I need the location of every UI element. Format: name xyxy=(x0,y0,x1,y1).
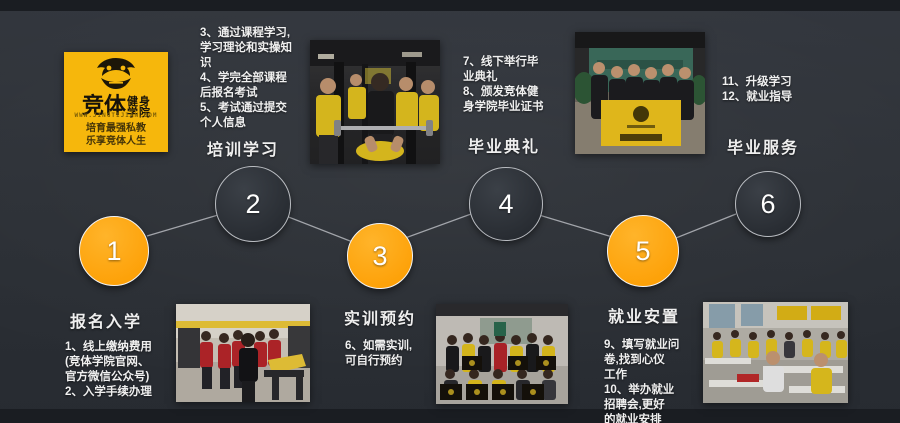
stage-title-practical-booking: 实训预约 xyxy=(344,305,416,329)
step-node-2-number: 2 xyxy=(245,191,260,218)
step-node-1-number: 1 xyxy=(106,238,121,265)
step-node-3[interactable]: 3 xyxy=(347,223,413,289)
stage-bullets-training-study: 3、通过课程学习, 学习理论和实操知 识 4、学完全部课程 后报名考试 5、考试… xyxy=(200,26,312,131)
step-node-2[interactable]: 2 xyxy=(215,166,291,242)
step-node-5-number: 5 xyxy=(635,238,650,265)
step-node-1[interactable]: 1 xyxy=(79,216,149,286)
stage-bullets-graduation-ceremony-text: 7、线下举行毕 业典礼 8、颁发竞体健 身学院毕业证书 xyxy=(463,55,567,115)
stage-bullets-practical-booking-text: 6、如需实训, 可自行预约 xyxy=(345,339,445,369)
stage-title-enrollment: 报名入学 xyxy=(70,308,142,332)
stage-title-graduate-service: 毕业服务 xyxy=(727,134,799,158)
step-node-4[interactable]: 4 xyxy=(469,167,543,241)
stage-bullets-graduation-ceremony: 7、线下举行毕 业典礼 8、颁发竞体健 身学院毕业证书 xyxy=(463,55,567,115)
step-node-3-number: 3 xyxy=(372,243,387,270)
stage-bullets-graduate-service-text: 11、升级学习 12、就业指导 xyxy=(722,75,832,105)
stage-bullets-graduate-service: 11、升级学习 12、就业指导 xyxy=(722,75,832,105)
stage-title-training-study: 培训学习 xyxy=(207,136,279,160)
step-node-6[interactable]: 6 xyxy=(735,171,801,237)
stage-bullets-training-study-text: 3、通过课程学习, 学习理论和实操知 识 4、学完全部课程 后报名考试 5、考试… xyxy=(200,26,312,131)
stage-title-graduation-ceremony: 毕业典礼 xyxy=(468,133,540,157)
step-node-5[interactable]: 5 xyxy=(607,215,679,287)
stage-title-job-placement: 就业安置 xyxy=(608,303,680,327)
stage-bullets-enrollment-text: 1、线上缴纳费用 (竞体学院官网、 官方微信公众号) 2、入学手续办理 xyxy=(65,340,183,400)
process-flow-slide: 竞体健学身院 WWW.JINGTIJIAN.COM 培育最强私教 乐享竞体人生 … xyxy=(0,0,900,423)
stage-bullets-job-placement-text: 9、填写就业问 卷,找到心仪 工作 10、举办就业 招聘会,更好 的就业安排 xyxy=(604,338,700,423)
stage-bullets-practical-booking: 6、如需实训, 可自行预约 xyxy=(345,339,445,369)
step-node-4-number: 4 xyxy=(498,191,513,218)
step-node-6-number: 6 xyxy=(760,191,775,218)
stage-bullets-job-placement: 9、填写就业问 卷,找到心仪 工作 10、举办就业 招聘会,更好 的就业安排 xyxy=(604,338,700,423)
stage-bullets-enrollment: 1、线上缴纳费用 (竞体学院官网、 官方微信公众号) 2、入学手续办理 xyxy=(65,340,183,400)
